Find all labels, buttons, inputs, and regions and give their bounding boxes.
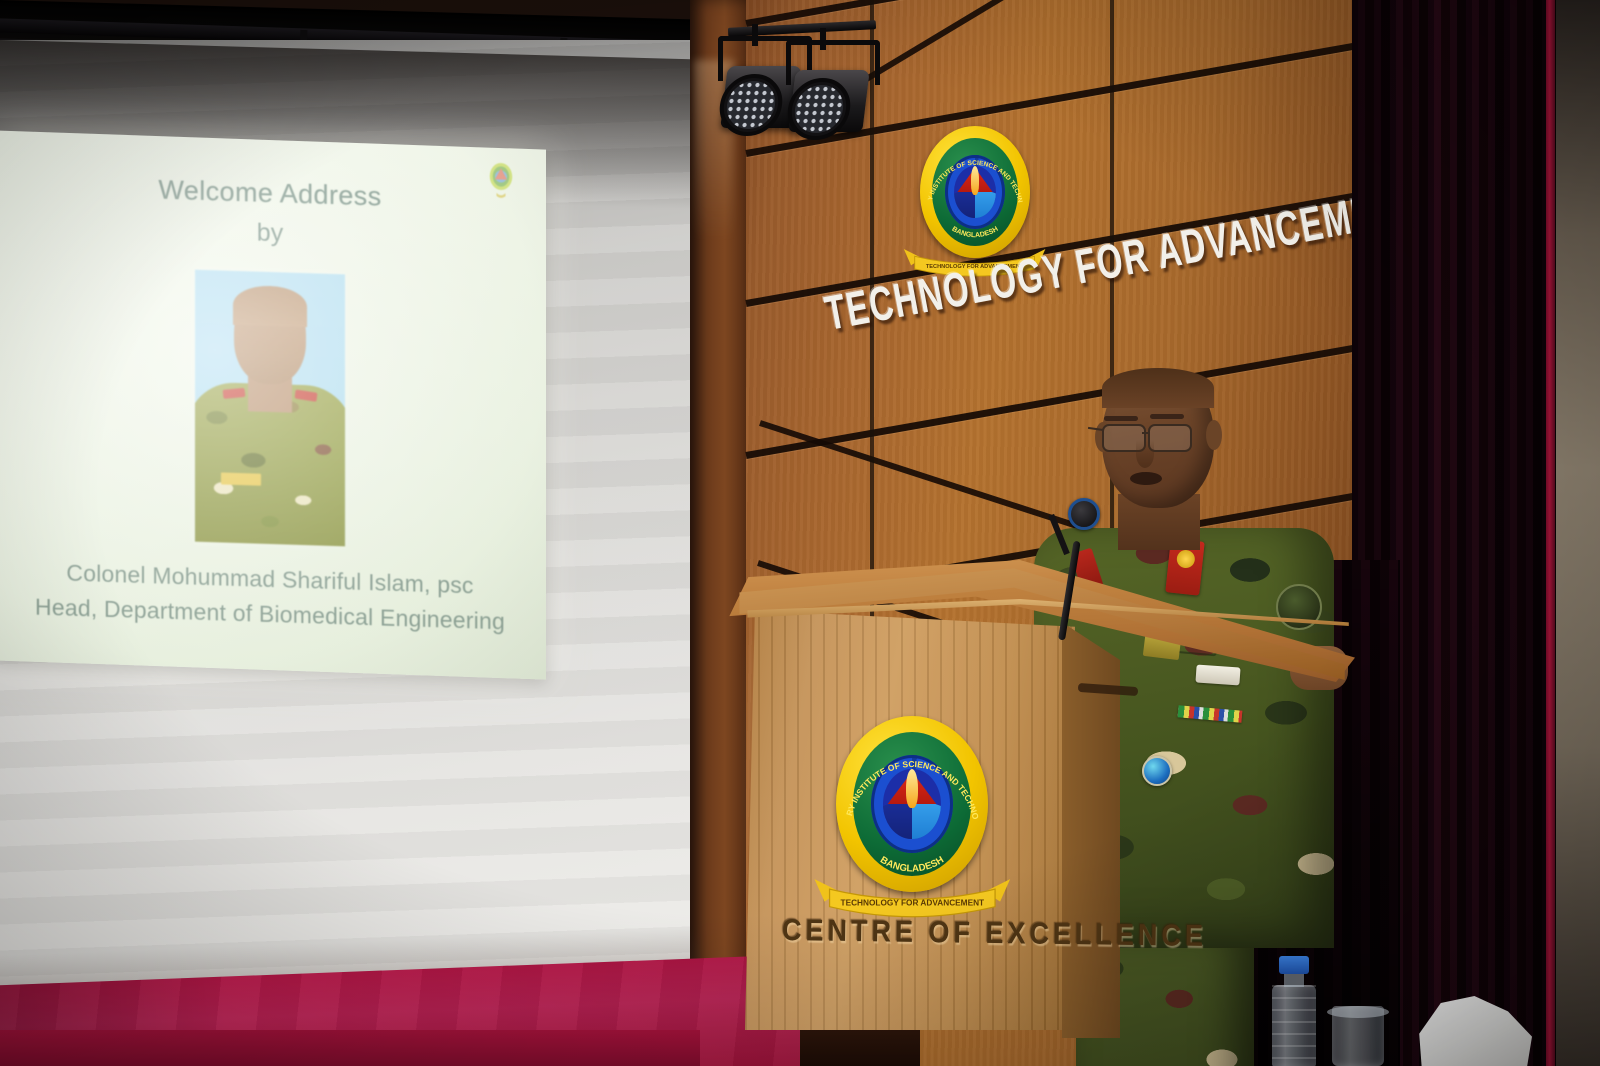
speaker-mouth [1130,472,1162,485]
microphone-capsule-icon [1068,498,1100,530]
water-bottle-icon [1272,956,1316,1066]
podium-crest-icon: MILITARY INSTITUTE OF SCIENCE AND TECHNO… [836,716,988,892]
curtain-edge-trim [1546,0,1555,1066]
slide-speaker-name: Colonel Mohummad Shariful Islam, psc [66,560,473,600]
officer-portrait-photo [195,270,345,547]
wood-pillar [690,0,746,1066]
name-tag-icon [1195,664,1240,685]
speaker-eyebrow [1104,416,1138,421]
stage-carpet-front [0,1030,700,1066]
wall-crest-icon: MILITARY INSTITUTE OF SCIENCE AND TECHNO… [920,126,1030,258]
speaker-hair [1102,368,1214,408]
podium-side-panel [1062,618,1120,1038]
right-wall-strip [1556,0,1600,1066]
speaker-nose [1136,440,1154,468]
presentation-slide: Welcome Address by Colonel Mohummad Shar… [0,131,546,678]
podium-label: CENTRE OF EXCELLENCE [782,913,1207,954]
projection-screen: Welcome Address by Colonel Mohummad Shar… [0,130,546,679]
eyeglasses-icon [1148,424,1192,452]
podium-crest-banner-text: TECHNOLOGY FOR ADVANCEMENT [840,899,984,908]
speaker-ear [1206,420,1222,450]
auditorium-scene: MILITARY INSTITUTE OF SCIENCE AND TECHNO… [0,0,1600,1066]
slide-mist-crest-icon [486,161,516,200]
drinking-glass-icon [1332,1006,1384,1066]
slide-connector: by [257,219,283,249]
slide-speaker-role: Head, Department of Biomedical Engineeri… [35,594,505,636]
eyeglass-bridge [1142,432,1150,434]
speaker-eyebrow [1150,414,1184,419]
slide-title: Welcome Address [158,174,381,212]
blue-badge-icon [1142,756,1172,786]
